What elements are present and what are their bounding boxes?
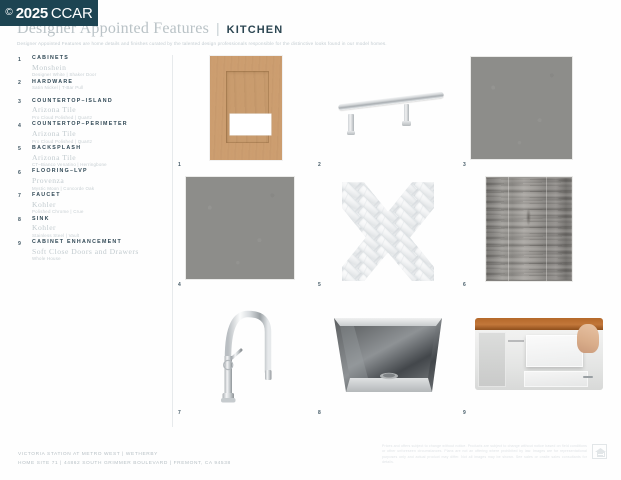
mosaic-tile — [423, 233, 438, 257]
pull-post-left — [348, 114, 354, 132]
page-section-label: KITCHEN — [227, 24, 284, 36]
list-item: 8 SINK Kohler Stainless Steel | Vault — [18, 217, 166, 239]
list-item: 2 HARDWARE Satin Nickel | T-Bar Pull — [18, 80, 166, 91]
column-divider — [172, 55, 173, 427]
feature-sheet-page: © 2025 CCAR Designer Appointed Features … — [0, 0, 621, 480]
feature-number: 8 — [18, 217, 21, 223]
drawer-slide — [508, 340, 523, 343]
mosaic-tile — [433, 229, 438, 253]
list-item: 9 CABINET ENHANCEMENT Soft Close Doors a… — [18, 240, 166, 262]
feature-number: 5 — [18, 146, 21, 152]
disclaimer-text: Prices and offers subject to change with… — [382, 444, 587, 466]
mosaic-tile — [377, 176, 401, 180]
feature-number: 1 — [18, 57, 21, 63]
feature-label: CABINETS — [32, 56, 166, 62]
page-header: Designer Appointed Features | KITCHEN De… — [17, 20, 597, 46]
footer-legal: Prices and offers subject to change with… — [382, 444, 607, 466]
mosaic-tile — [386, 176, 410, 179]
feature-number: 2 — [18, 80, 21, 86]
lower-drawer-front — [524, 371, 588, 387]
mosaic-tile — [377, 179, 401, 203]
quartz-perimeter-swatch — [185, 176, 295, 280]
swatch-cell-6: 6 — [463, 176, 603, 288]
hand-pushing-drawer — [577, 324, 599, 353]
plank-seam-left — [508, 177, 509, 281]
list-item: 1 CABINETS Monshein Designer White | Sha… — [18, 56, 166, 78]
feature-desc: Mystic Moon | Concorde Oak — [32, 186, 166, 191]
list-item: 3 COUNTERTOP–ISLAND Arizona Tile Pro Clo… — [18, 99, 166, 121]
quartz-island-swatch — [470, 56, 573, 160]
swatch-number: 2 — [318, 162, 321, 168]
drawer-handle-lower — [583, 376, 593, 378]
mosaic-tile — [338, 241, 344, 265]
swatch-number: 7 — [178, 410, 181, 416]
ccar-copyright-watermark: © 2025 CCAR — [0, 0, 98, 26]
logo-equal-bar-2 — [598, 455, 603, 456]
feature-desc: Whole House — [32, 256, 166, 261]
swatch-grid: 1 2 3 4 — [178, 56, 603, 426]
lvp-flooring-swatch — [485, 176, 573, 282]
mosaic-tile — [339, 176, 363, 180]
swatch-number: 8 — [318, 410, 321, 416]
feature-desc: Stainless Steel | Vault — [32, 233, 166, 238]
feature-label: FLOORING–LVP — [32, 169, 166, 175]
watermark-org: CCAR — [51, 6, 93, 21]
page-subtitle: Designer Appointed Features are home det… — [17, 41, 597, 46]
feature-number: 4 — [18, 123, 21, 129]
door-white-label — [230, 114, 271, 135]
mosaic-tile — [377, 176, 401, 192]
mosaic-tile — [338, 207, 344, 231]
feature-label: BACKSPLASH — [32, 146, 166, 152]
faucet-swatch — [206, 298, 286, 408]
footer-address: VICTORIA STATION AT METRO WEST | WETHERB… — [18, 450, 231, 468]
logo-equal-bar-1 — [598, 453, 603, 454]
swatch-cell-5: 5 — [318, 176, 463, 288]
feature-brand: Soft Close Doors and Drawers — [32, 247, 166, 256]
feature-label: SINK — [32, 217, 166, 223]
swatch-number: 1 — [178, 162, 181, 168]
swatch-number: 5 — [318, 282, 321, 288]
pull-base-right — [402, 121, 410, 126]
mosaic-tile — [423, 222, 438, 246]
swatch-cell-2: 2 — [318, 56, 463, 168]
mosaic-tile — [423, 176, 438, 179]
mosaic-tile — [386, 278, 410, 282]
feature-label: COUNTERTOP–PERIMETER — [32, 122, 166, 128]
mosaic-tile — [367, 272, 391, 282]
soft-close-drawer-photo — [475, 318, 603, 390]
mosaic-tile — [367, 176, 391, 184]
feature-label: CABINET ENHANCEMENT — [32, 240, 166, 246]
list-item: 6 FLOORING–LVP Provenza Mystic Moon | Co… — [18, 169, 166, 191]
title-row: Designer Appointed Features | KITCHEN — [17, 20, 597, 38]
mosaic-tile — [377, 280, 401, 282]
title-separator: | — [216, 20, 220, 36]
feature-brand: Arizona Tile — [32, 129, 166, 138]
feature-number: 6 — [18, 170, 21, 176]
feature-number: 9 — [18, 241, 21, 247]
feature-desc: Designer White | Shaker Door — [32, 72, 166, 77]
mosaic-tile — [386, 176, 410, 190]
swatch-cell-4: 4 — [178, 176, 318, 288]
watermark-year: 2025 — [16, 6, 48, 21]
feature-number: 7 — [18, 193, 21, 199]
swatch-cell-7: 7 — [178, 296, 318, 416]
bar-pull-hardware-swatch — [336, 76, 446, 146]
feature-label: FAUCET — [32, 193, 166, 199]
mosaic-tile — [433, 241, 438, 265]
feature-brand: Arizona Tile — [32, 105, 166, 114]
feature-desc: Pro Cloud Polished | Quartz — [32, 139, 166, 144]
swatch-number: 4 — [178, 282, 181, 288]
mosaic-tile — [338, 228, 353, 252]
swatch-number: 3 — [463, 162, 466, 168]
pull-base-left — [347, 131, 355, 136]
plank-knot — [526, 208, 531, 226]
mosaic-tile — [349, 176, 373, 179]
equal-housing-logo-icon — [592, 444, 607, 459]
list-item: 7 FAUCET Kohler Polished Chrome | Crue — [18, 193, 166, 215]
feature-desc: Pro Cloud Polished | Quartz — [32, 115, 166, 120]
feature-list: 1 CABINETS Monshein Designer White | Sha… — [18, 56, 166, 264]
mosaic-tile — [414, 224, 438, 248]
feature-number: 3 — [18, 99, 21, 105]
swatch-cell-9: 9 — [463, 296, 603, 416]
drawer-front — [526, 335, 582, 367]
faucet-icon — [206, 298, 286, 408]
swatch-cell-8: 8 — [318, 296, 463, 416]
feature-label: COUNTERTOP–ISLAND — [32, 99, 166, 105]
herringbone-backsplash-swatch — [338, 176, 438, 282]
feature-desc: Polished Chrome | Crue — [32, 209, 166, 214]
feature-brand: Provenza — [32, 176, 166, 185]
mosaic-tile — [338, 216, 353, 240]
feature-brand: Kohler — [32, 200, 166, 209]
feature-brand: Arizona Tile — [32, 153, 166, 162]
list-item: 5 BACKSPLASH Arizona Tile CT–Bianco Vena… — [18, 146, 166, 168]
mosaic-tile — [338, 229, 344, 253]
list-item: 4 COUNTERTOP–PERIMETER Arizona Tile Pro … — [18, 122, 166, 144]
cabinet-box-left — [478, 332, 506, 387]
mosaic-tile — [358, 274, 382, 282]
pull-bar — [338, 92, 444, 111]
feature-desc: Satin Nickel | T-Bar Pull — [32, 85, 166, 90]
swatch-number: 6 — [463, 282, 466, 288]
footer-address-line: HOME SITE 71 | 44862 SOUTH GRIMMER BOULE… — [18, 459, 231, 468]
sink-icon — [328, 312, 448, 398]
copyright-icon: © — [5, 8, 12, 18]
feature-brand: Kohler — [32, 223, 166, 232]
mosaic-tile — [433, 218, 438, 242]
plank-seam-right — [546, 177, 547, 281]
cabinet-door-swatch — [210, 56, 282, 160]
swatch-cell-3: 3 — [463, 56, 603, 168]
swatch-cell-1: 1 — [178, 56, 318, 168]
mosaic-tile — [414, 176, 438, 180]
mosaic-tile — [377, 269, 401, 282]
sink-swatch — [328, 312, 448, 398]
swatch-number: 9 — [463, 410, 466, 416]
mosaic-tile — [433, 207, 438, 231]
plank-grain-texture-2 — [486, 177, 572, 281]
feature-desc: CT–Bianco Venatino | Herringbone — [32, 162, 166, 167]
footer-community-line: VICTORIA STATION AT METRO WEST | WETHERB… — [18, 450, 231, 459]
feature-brand: Monshein — [32, 63, 166, 72]
mosaic-tile — [338, 218, 344, 242]
pull-post-right — [404, 104, 410, 122]
